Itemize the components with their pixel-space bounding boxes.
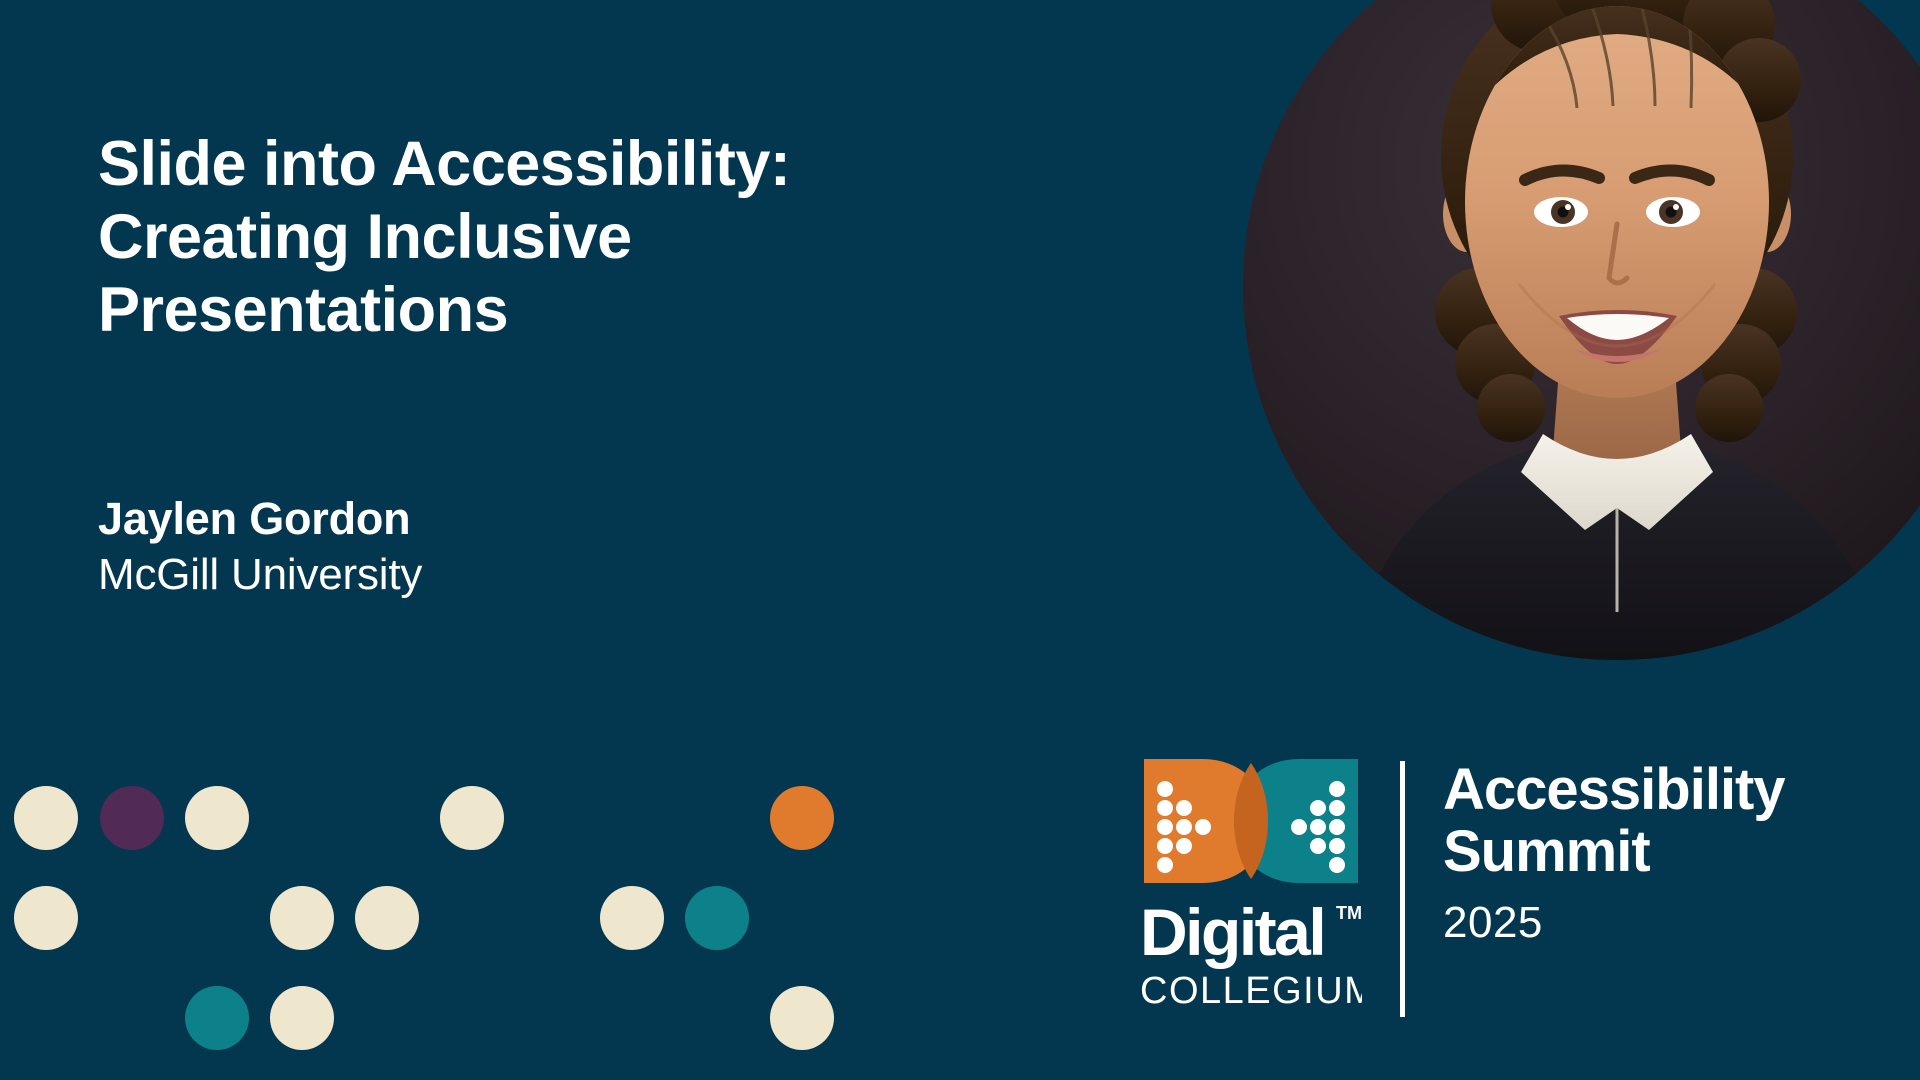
brand-lockup: Digital TM COLLEGIUM Accessibility Summi…: [1140, 755, 1785, 1017]
decorative-dot: [270, 886, 334, 950]
digital-collegium-mark-icon: [1140, 755, 1362, 887]
wordmark-collegium-text: COLLEGIUM: [1140, 970, 1362, 1012]
speaker-headshot-photo: [1243, 0, 1920, 660]
wordmark-trademark-text: TM: [1336, 903, 1362, 923]
summit-title: Accessibility Summit: [1443, 759, 1785, 883]
summit-year: 2025: [1443, 901, 1785, 945]
speaker-affiliation: McGill University: [98, 547, 858, 602]
digital-collegium-logo: Digital TM COLLEGIUM: [1140, 755, 1362, 1013]
page-title: Slide into Accessibility: Creating Inclu…: [98, 128, 1038, 347]
decorative-dot: [185, 786, 249, 850]
decorative-dot: [270, 986, 334, 1050]
decorative-dot: [600, 886, 664, 950]
decorative-dot-grid: [0, 760, 1080, 1080]
decorative-dot: [770, 786, 834, 850]
title-slide: Slide into Accessibility: Creating Inclu…: [0, 0, 1920, 1080]
speaker-name: Jaylen Gordon: [98, 492, 858, 547]
vertical-divider: [1400, 761, 1405, 1017]
decorative-dot: [355, 886, 419, 950]
digital-collegium-wordmark: Digital TM COLLEGIUM: [1140, 893, 1362, 1013]
decorative-dot: [100, 786, 164, 850]
decorative-dot: [440, 786, 504, 850]
title-block: Slide into Accessibility: Creating Inclu…: [98, 128, 1038, 347]
decorative-dot: [770, 986, 834, 1050]
decorative-dot: [14, 886, 78, 950]
decorative-dot: [185, 986, 249, 1050]
decorative-dot: [685, 886, 749, 950]
speaker-block: Jaylen Gordon McGill University: [98, 492, 858, 602]
summit-block: Accessibility Summit 2025: [1443, 755, 1785, 945]
decorative-dot: [14, 786, 78, 850]
wordmark-digital-text: Digital: [1140, 895, 1324, 969]
